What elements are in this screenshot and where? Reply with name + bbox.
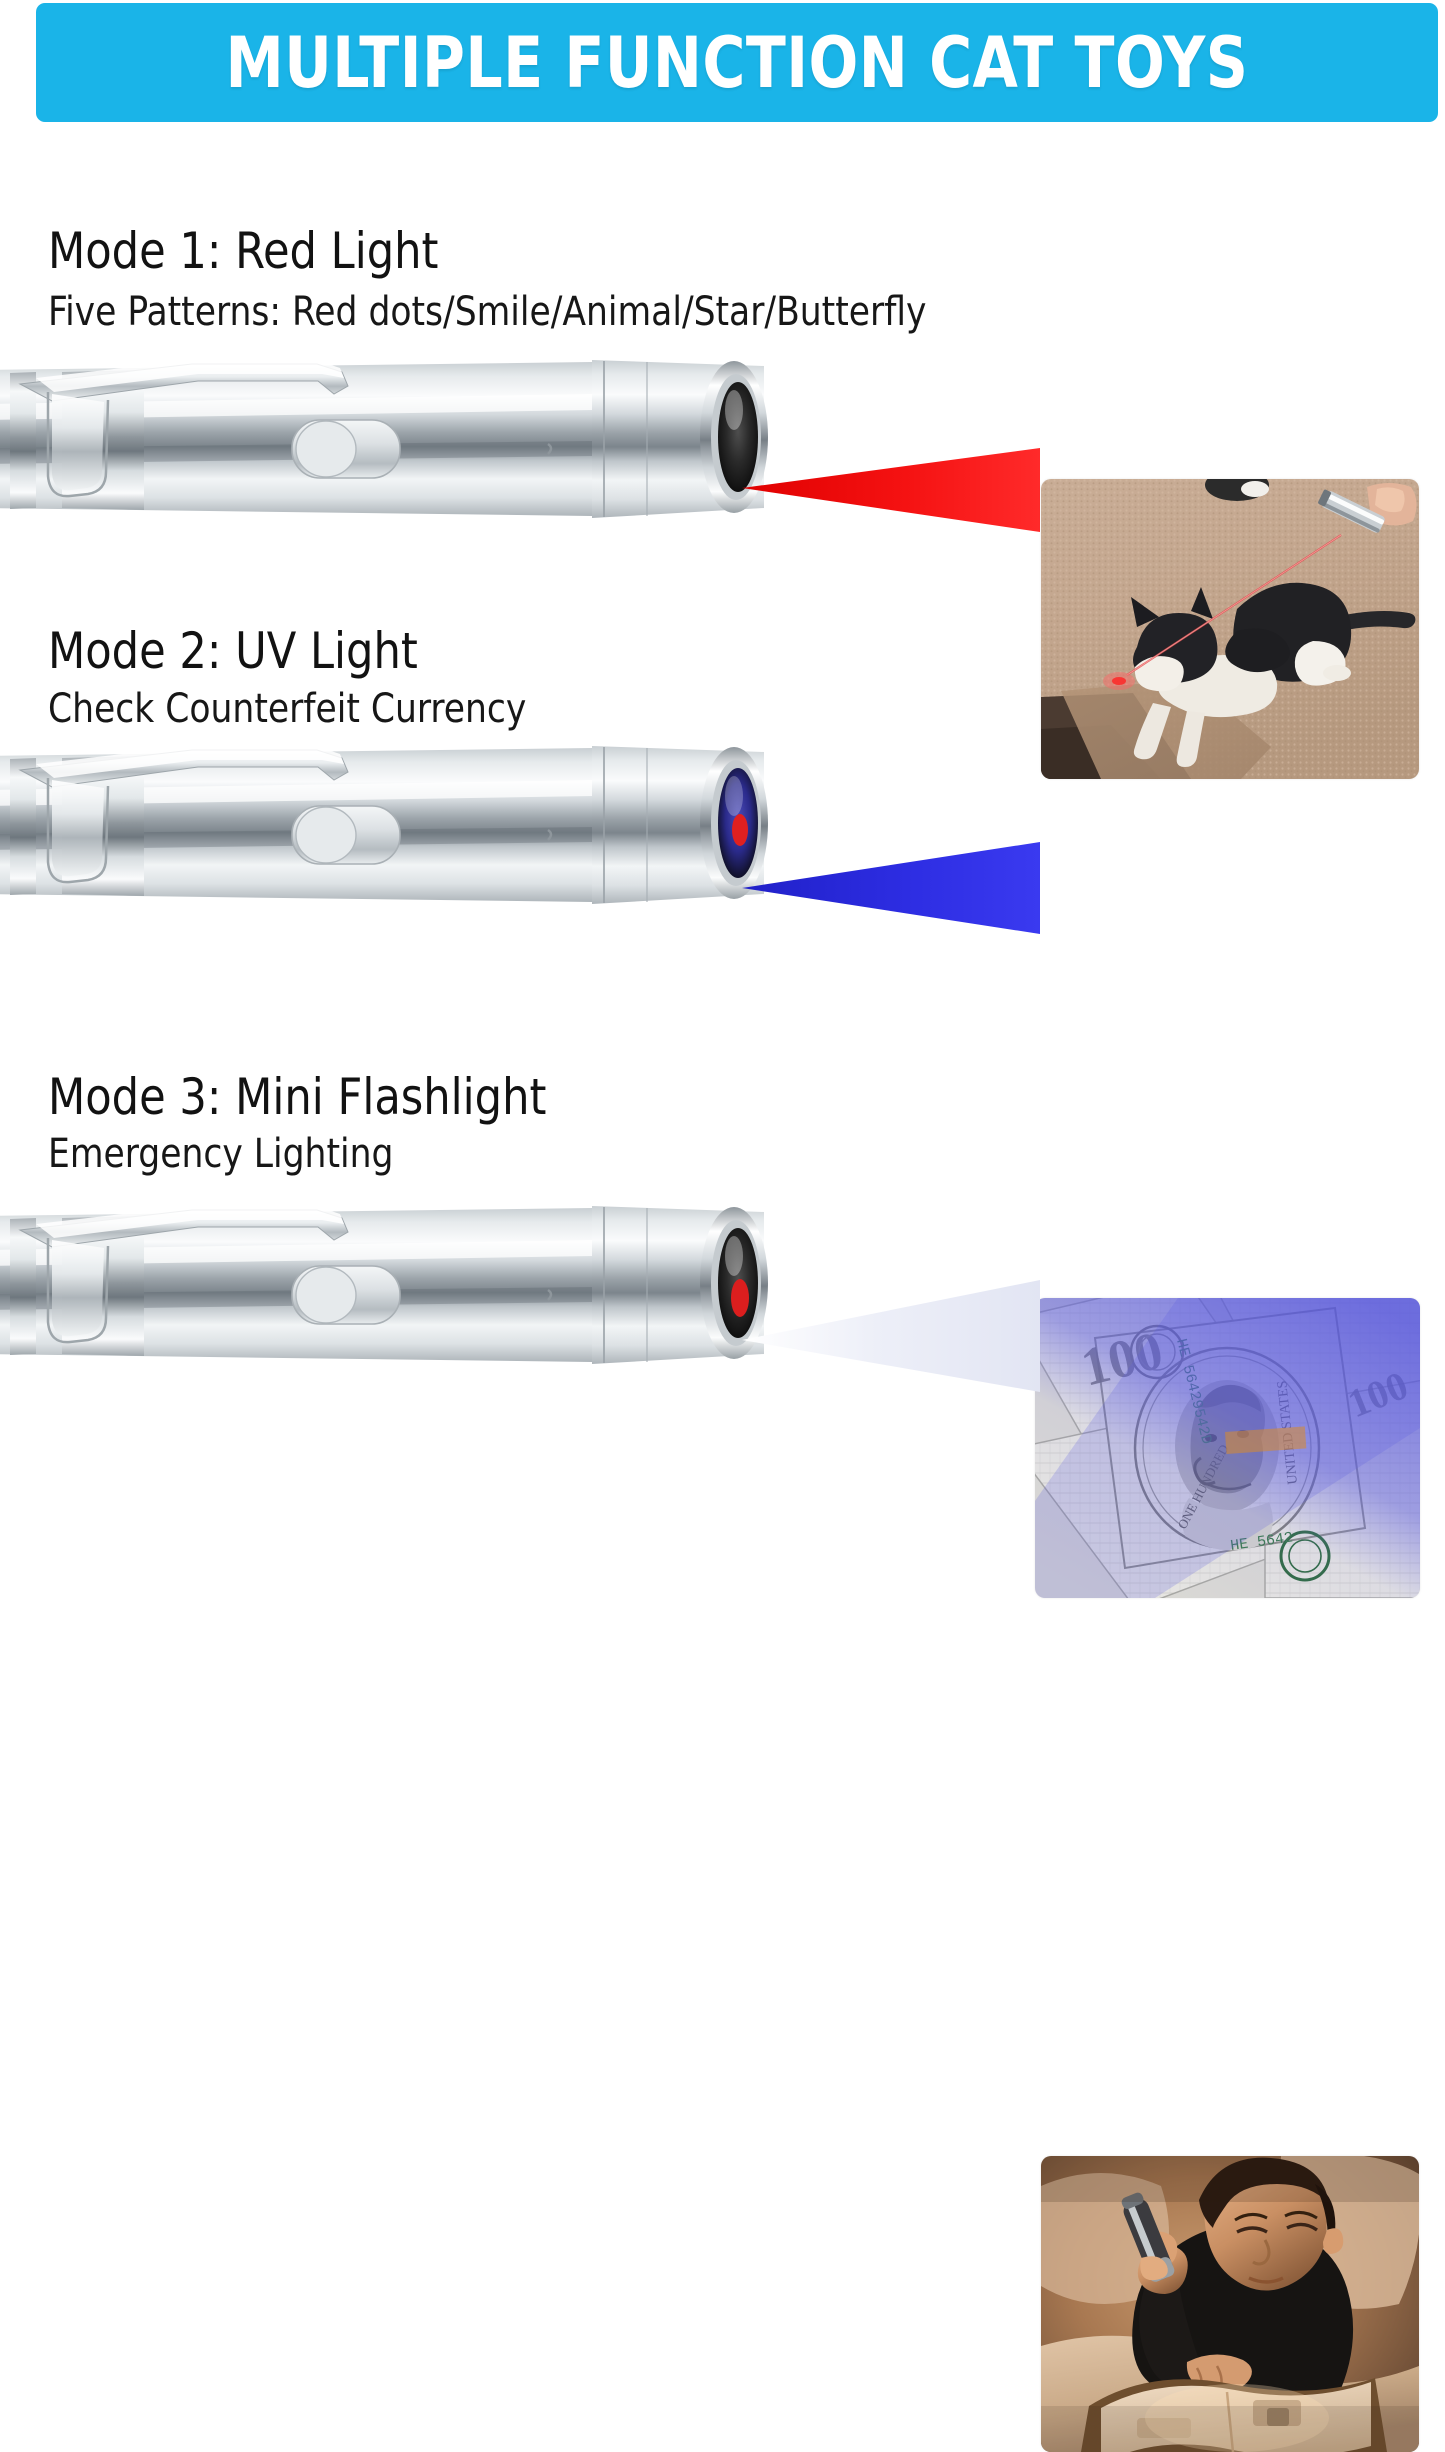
mode-section-mini-flashlight: Mode 3: Mini Flashlight Emergency Lighti…	[0, 1046, 1445, 1414]
mode-heading: Mode 2: UV Light	[48, 622, 418, 680]
red-laser-beam	[740, 392, 1050, 592]
uv-blue-beam	[740, 792, 1050, 992]
white-flashlight-beam	[740, 1242, 1050, 1442]
header-banner: MULTIPLE FUNCTION CAT TOYS	[36, 3, 1438, 122]
mode-subtitle: Check Counterfeit Currency	[48, 686, 526, 732]
mode-subtitle: Five Patterns: Red dots/Smile/Animal/Sta…	[48, 289, 926, 335]
boy-reading-with-flashlight-photo	[1041, 2156, 1419, 2452]
chrome-laser-pen-illustration	[0, 348, 792, 548]
mode-section-red-light: Mode 1: Red Light Five Patterns: Red dot…	[0, 196, 1445, 596]
page-title: MULTIPLE FUNCTION CAT TOYS	[226, 28, 1249, 98]
chrome-laser-pen-illustration	[0, 734, 792, 934]
chrome-laser-pen-illustration	[0, 1194, 792, 1394]
mode-heading: Mode 1: Red Light	[48, 222, 438, 280]
mode-subtitle: Emergency Lighting	[48, 1131, 393, 1177]
mode-section-uv-light: Mode 2: UV Light Check Counterfeit Curre…	[0, 596, 1445, 1046]
mode-heading: Mode 3: Mini Flashlight	[48, 1068, 546, 1126]
